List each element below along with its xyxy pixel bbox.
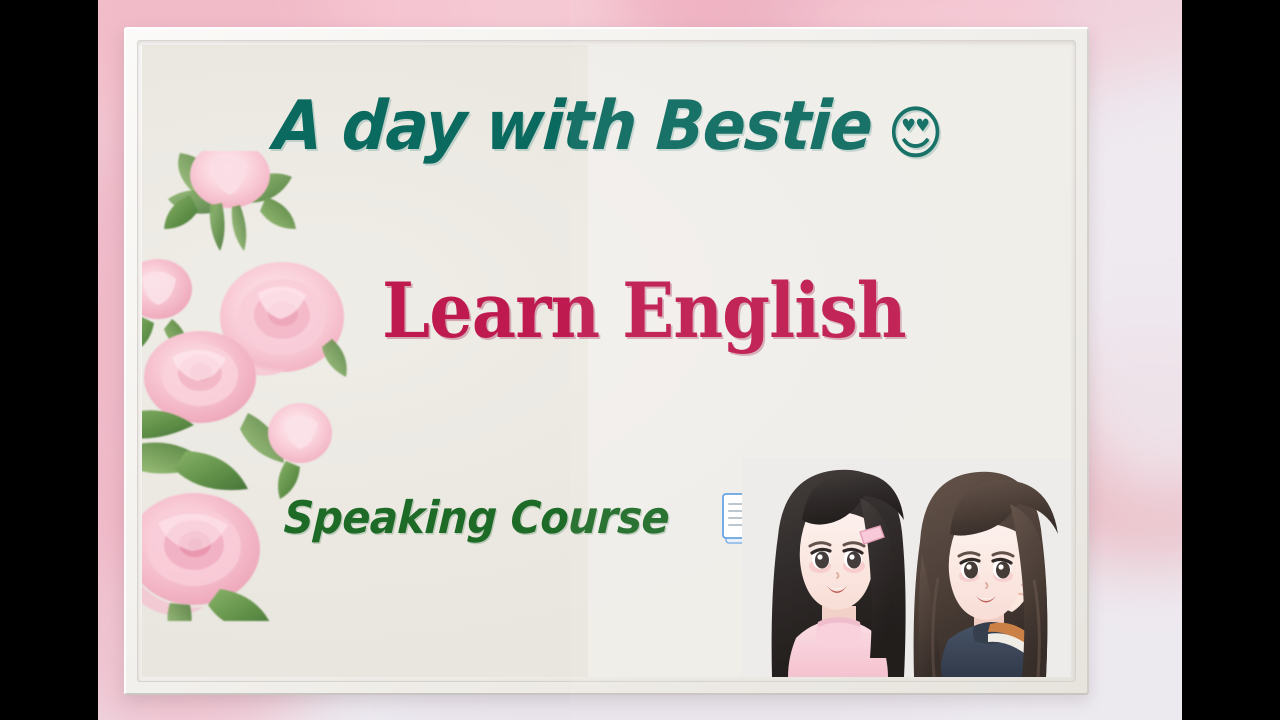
frame-inner-canvas: A day with Bestie😍 Learn English Speakin… <box>142 45 1071 677</box>
picture-frame: A day with Bestie😍 Learn English Speakin… <box>124 27 1089 695</box>
pink-roses-bouquet-icon <box>142 151 388 621</box>
letterbox-bar-right <box>1182 0 1280 720</box>
page-subtitle: Learn English <box>382 273 906 349</box>
two-girls-illustration-icon <box>742 458 1071 677</box>
heart-eyes-emoji-icon: 😍 <box>888 104 943 162</box>
letterbox-bar-left <box>0 0 98 720</box>
video-canvas: A day with Bestie😍 Learn English Speakin… <box>0 0 1280 720</box>
